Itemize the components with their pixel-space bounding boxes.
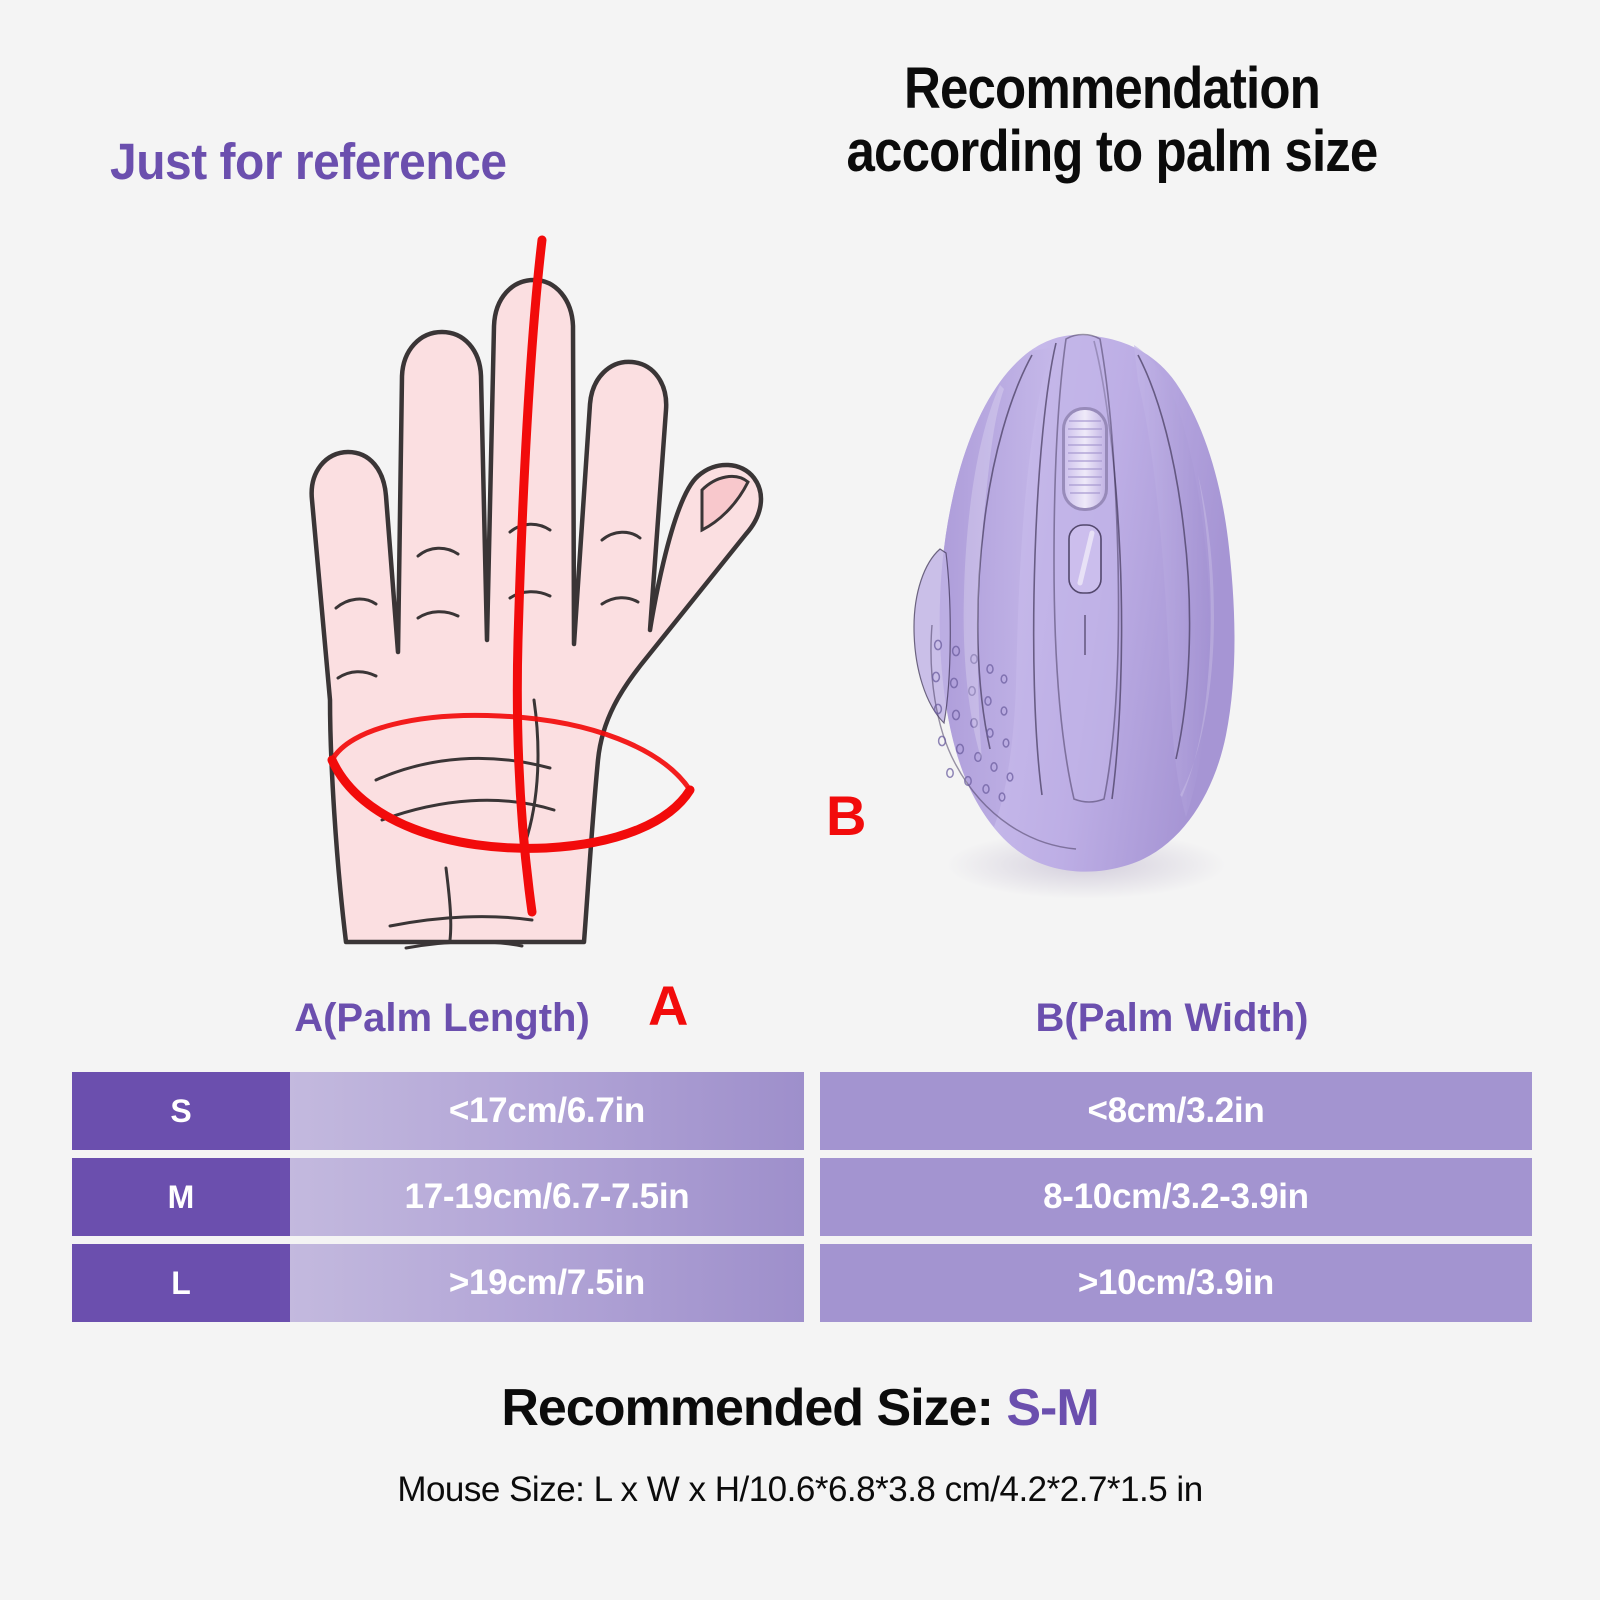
palm-length-value-s: <17cm/6.7in (290, 1072, 804, 1150)
page-title-line1: Recommendation (698, 58, 1525, 121)
table-row: S <17cm/6.7in <8cm/3.2in (72, 1072, 1532, 1150)
size-label-s: S (72, 1072, 290, 1150)
recommended-size: Recommended Size: S-M (0, 1378, 1600, 1438)
table-row: M 17-19cm/6.7-7.5in 8-10cm/3.2-3.9in (72, 1158, 1532, 1236)
size-label-m: M (72, 1158, 290, 1236)
column-header-palm-length: A(Palm Length) (72, 996, 812, 1041)
column-header-palm-width: B(Palm Width) (812, 996, 1532, 1041)
palm-width-value-l: >10cm/3.9in (820, 1244, 1532, 1322)
page-title: Recommendation according to palm size (642, 58, 1582, 183)
table-row: L >19cm/7.5in >10cm/3.9in (72, 1244, 1532, 1322)
palm-width-marker: B (826, 788, 866, 844)
row-group-palm-width: >10cm/3.9in (820, 1244, 1532, 1322)
row-group-palm-length: S <17cm/6.7in (72, 1072, 804, 1150)
size-label-l: L (72, 1244, 290, 1322)
row-group-palm-length: L >19cm/7.5in (72, 1244, 804, 1322)
recommended-size-value: S-M (1006, 1379, 1098, 1437)
palm-width-value-m: 8-10cm/3.2-3.9in (820, 1158, 1532, 1236)
mouse-dimensions: Mouse Size: L x W x H/10.6*6.8*3.8 cm/4.… (0, 1470, 1600, 1510)
infographic-canvas: Just for reference Recommendation accord… (0, 0, 1600, 1600)
palm-length-value-l: >19cm/7.5in (290, 1244, 804, 1322)
mouse-product-image: TECKNET (880, 325, 1280, 905)
page-title-line2: according to palm size (698, 121, 1525, 184)
hand-diagram: A B (150, 200, 790, 960)
size-table: S <17cm/6.7in <8cm/3.2in M 17-19cm/6.7-7… (72, 1072, 1532, 1330)
reference-label: Just for reference (110, 132, 636, 191)
row-group-palm-width: 8-10cm/3.2-3.9in (820, 1158, 1532, 1236)
row-group-palm-width: <8cm/3.2in (820, 1072, 1532, 1150)
row-group-palm-length: M 17-19cm/6.7-7.5in (72, 1158, 804, 1236)
table-column-headers: A(Palm Length) B(Palm Width) (72, 996, 1532, 1041)
recommended-size-label: Recommended Size: (501, 1379, 993, 1437)
palm-width-value-s: <8cm/3.2in (820, 1072, 1532, 1150)
palm-length-value-m: 17-19cm/6.7-7.5in (290, 1158, 804, 1236)
